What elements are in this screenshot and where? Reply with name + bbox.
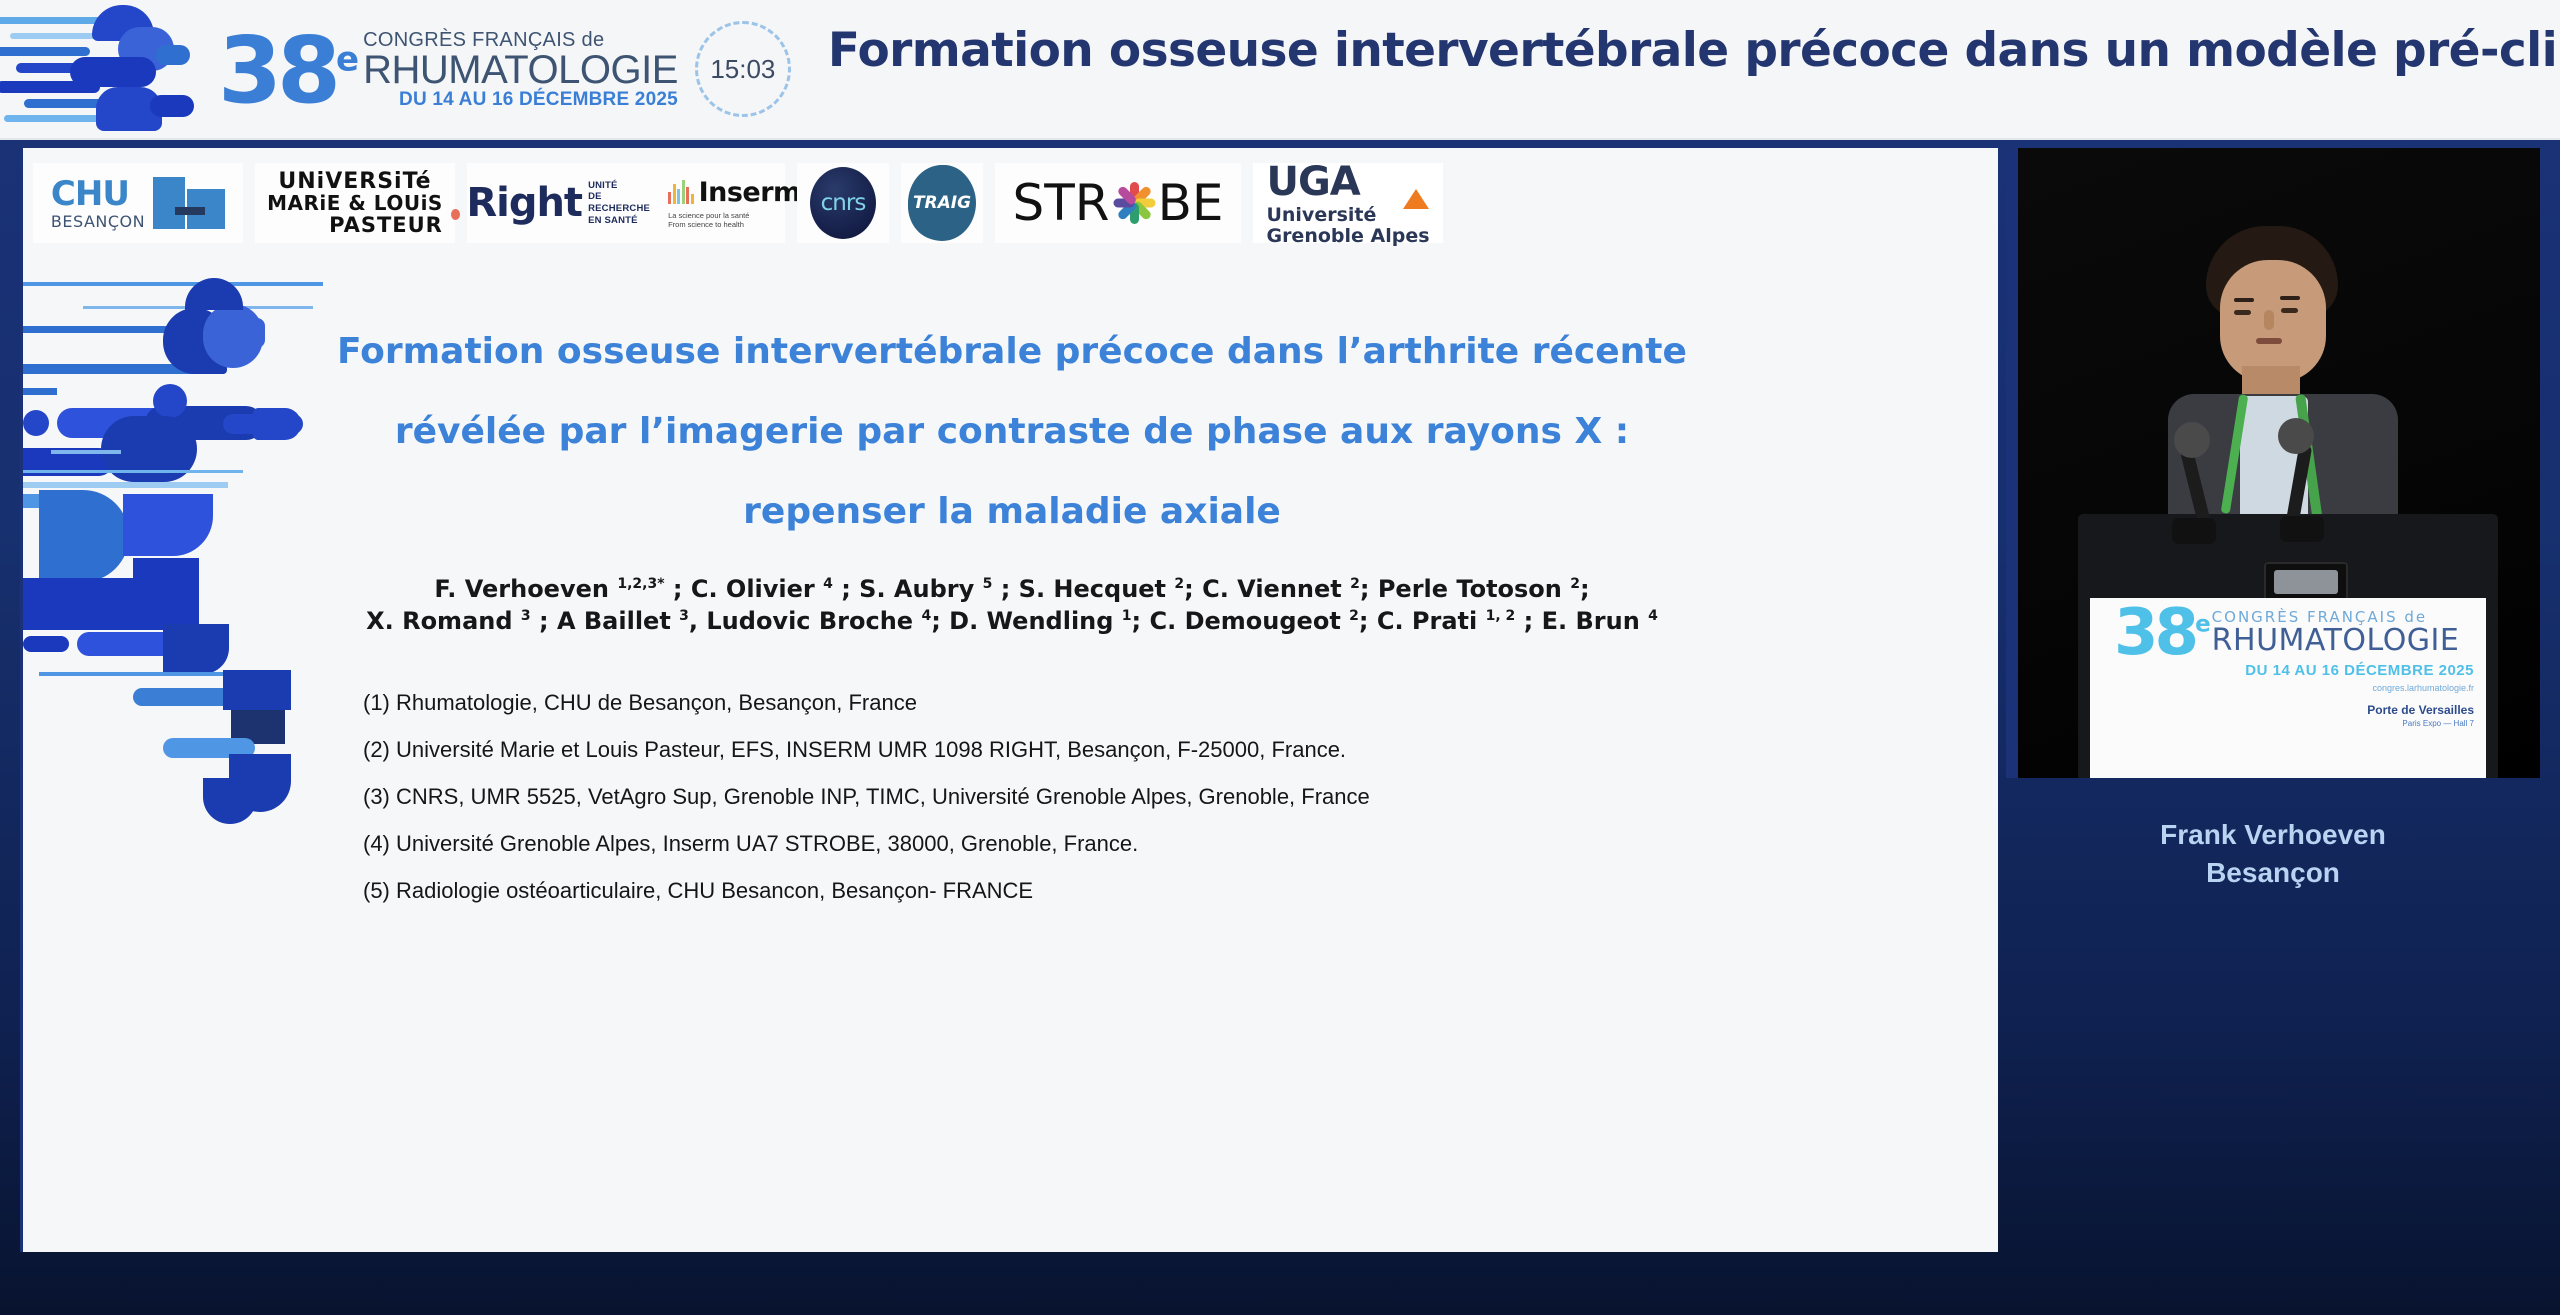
universite-marie-louis-pasteur-logo: UNiVERSiTé MARiE & LOUiS PASTEUR bbox=[255, 163, 455, 243]
cnrs-wordmark: cnrs bbox=[821, 190, 866, 216]
inserm-logo: Inserm La science pour la santé From sci… bbox=[668, 177, 801, 230]
podium-congress-logo: 38e CONGRÈS FRANÇAIS de RHUMATOLOGIE DU … bbox=[2114, 608, 2474, 728]
inserm-bars-icon bbox=[668, 180, 694, 204]
affiliation-list: (1) Rhumatologie, CHU de Besançon, Besan… bbox=[23, 692, 1998, 902]
slide-viewer[interactable]: CHU BESANÇON UNiVERSiTé MARiE & LOUiS PA… bbox=[20, 148, 1998, 1252]
right-dot-icon bbox=[451, 209, 460, 220]
podium-edition-number: 38e bbox=[2114, 608, 2207, 659]
slide-content: Formation osseuse intervertébrale précoc… bbox=[23, 258, 1998, 1252]
slide-title-line-3: repenser la maladie axiale bbox=[283, 494, 1741, 530]
speaker-video[interactable]: 38e CONGRÈS FRANÇAIS de RHUMATOLOGIE DU … bbox=[2006, 148, 2540, 778]
affiliation-item: (5) Radiologie ostéoarticulaire, CHU Bes… bbox=[363, 880, 1998, 902]
speaker-mouth bbox=[2256, 338, 2282, 344]
umlp-line1: UNiVERSiTé bbox=[267, 170, 443, 193]
inserm-wordmark: Inserm bbox=[699, 177, 801, 208]
speaker-name: Frank Verhoeven bbox=[2006, 816, 2540, 854]
right-inserm-logo-group: Right UNITÉ DE RECHERCHE EN SANTÉ bbox=[467, 163, 785, 243]
slide-title: Formation osseuse intervertébrale précoc… bbox=[23, 334, 1998, 530]
room-label: Salle 5 bbox=[828, 82, 2560, 113]
strobe-prefix: STR bbox=[1013, 174, 1110, 232]
webcast-page: 38e CONGRÈS FRANÇAIS de RHUMATOLOGIE DU … bbox=[0, 0, 2560, 1315]
microphone-head-left bbox=[2174, 422, 2210, 458]
speaker-nose bbox=[2264, 310, 2274, 330]
congress-logo: 38e CONGRÈS FRANÇAIS de RHUMATOLOGIE DU … bbox=[210, 4, 678, 134]
inserm-tagline-fr: La science pour la santé bbox=[668, 211, 749, 220]
uga-triangle-icon bbox=[1403, 189, 1429, 209]
podium-slab bbox=[2274, 570, 2338, 594]
congress-edition-number: 38e bbox=[218, 33, 359, 108]
congress-logo-dates: DU 14 AU 16 DÉCEMBRE 2025 bbox=[363, 90, 678, 109]
session-timer: 15:03 bbox=[678, 0, 808, 139]
strobe-logo: STR BE bbox=[995, 163, 1241, 243]
chu-besancon-logo: CHU BESANÇON bbox=[33, 163, 243, 243]
traig-blob-icon: TRAIG bbox=[911, 168, 973, 238]
strobe-flower-icon bbox=[1111, 180, 1157, 226]
microphone-base-right bbox=[2280, 516, 2324, 542]
speaker-video-column: 38e CONGRÈS FRANÇAIS de RHUMATOLOGIE DU … bbox=[2006, 148, 2540, 1252]
speaker-brow-right bbox=[2280, 296, 2300, 300]
right-wordmark: Right bbox=[466, 180, 582, 226]
affiliation-item: (3) CNRS, UMR 5525, VetAgro Sup, Grenobl… bbox=[363, 786, 1998, 808]
podium-venue: Porte de Versailles bbox=[2114, 703, 2474, 717]
affiliation-item: (4) Université Grenoble Alpes, Inserm UA… bbox=[363, 833, 1998, 855]
podium-logo-line2: RHUMATOLOGIE bbox=[2212, 626, 2460, 656]
podium-branding-panel: 38e CONGRÈS FRANÇAIS de RHUMATOLOGIE DU … bbox=[2090, 598, 2486, 778]
app-header: 38e CONGRÈS FRANÇAIS de RHUMATOLOGIE DU … bbox=[0, 0, 2560, 140]
slide-title-line-2: révélée par l’imagerie par contraste de … bbox=[283, 414, 1741, 450]
traig-wordmark: TRAIG bbox=[913, 193, 971, 213]
runner-logo-icon bbox=[0, 0, 210, 139]
author-line-2: X. Romand 3 ; A Baillet 3, Ludovic Broch… bbox=[23, 606, 1998, 638]
affiliation-item: (2) Université Marie et Louis Pasteur, E… bbox=[363, 739, 1998, 761]
sponsor-logo-strip: CHU BESANÇON UNiVERSiTé MARiE & LOUiS PA… bbox=[23, 148, 1998, 258]
page-title: Formation osseuse intervertébrale précoc… bbox=[828, 25, 2560, 77]
timer-value: 15:03 bbox=[695, 21, 791, 117]
right-logo: Right UNITÉ DE RECHERCHE EN SANTÉ bbox=[451, 180, 652, 226]
chu-acronym: CHU bbox=[51, 177, 145, 211]
uga-line2: Grenoble Alpes bbox=[1266, 226, 1429, 247]
podium: 38e CONGRÈS FRANÇAIS de RHUMATOLOGIE DU … bbox=[2078, 514, 2498, 778]
speaker-city: Besançon bbox=[2006, 854, 2540, 892]
podium-venue-sub: Paris Expo — Hall 7 bbox=[2114, 719, 2474, 728]
right-sub1: UNITÉ bbox=[588, 180, 652, 192]
umlp-line3: PASTEUR bbox=[267, 214, 443, 236]
podium-logo-url: congres.larhumatologie.fr bbox=[2114, 683, 2474, 693]
congress-logo-line1: CONGRÈS FRANÇAIS de bbox=[363, 30, 678, 50]
congress-logo-line2: RHUMATOLOGIE bbox=[363, 50, 678, 90]
umlp-line2: MARiE & LOUiS bbox=[267, 193, 443, 214]
right-sub2: DE RECHERCHE bbox=[588, 191, 652, 214]
header-title-block: Formation osseuse intervertébrale précoc… bbox=[808, 0, 2560, 139]
traig-logo: TRAIG bbox=[901, 163, 983, 243]
strobe-suffix: BE bbox=[1158, 174, 1224, 232]
chu-city: BESANÇON bbox=[51, 214, 145, 230]
microphone-head-right bbox=[2278, 418, 2314, 454]
uga-acronym: UGA bbox=[1266, 159, 1429, 205]
right-sub3: EN SANTÉ bbox=[588, 215, 652, 227]
speaker-brow-left bbox=[2234, 298, 2254, 302]
author-list: F. Verhoeven 1,2,3* ; C. Olivier 4 ; S. … bbox=[23, 574, 1998, 638]
speaker-eye-right bbox=[2281, 308, 2298, 313]
affiliation-item: (1) Rhumatologie, CHU de Besançon, Besan… bbox=[363, 692, 1998, 714]
cnrs-logo: cnrs bbox=[797, 163, 889, 243]
cnrs-oval-icon: cnrs bbox=[810, 167, 876, 239]
inserm-tagline-en: From science to health bbox=[668, 220, 749, 229]
chu-mark-icon bbox=[153, 177, 225, 229]
slide-title-line-1: Formation osseuse intervertébrale précoc… bbox=[283, 334, 1741, 370]
uga-logo: UGA Université Grenoble Alpes bbox=[1253, 163, 1443, 243]
microphone-base-left bbox=[2172, 518, 2216, 544]
speaker-eye-left bbox=[2234, 310, 2251, 315]
speaker-info: Frank Verhoeven Besançon bbox=[2006, 816, 2540, 892]
author-line-1: F. Verhoeven 1,2,3* ; C. Olivier 4 ; S. … bbox=[23, 574, 1998, 606]
